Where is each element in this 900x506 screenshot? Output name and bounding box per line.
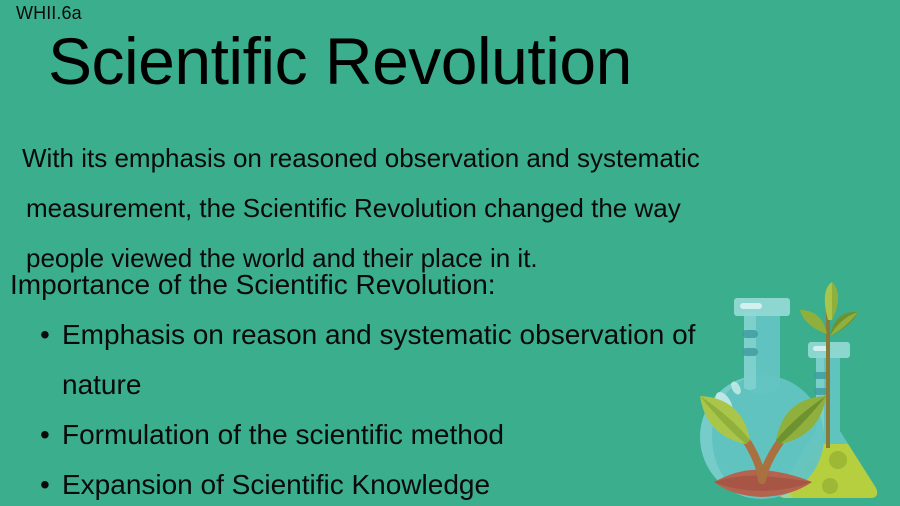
list-item-label: Expansion of Scientific Knowledge: [62, 464, 490, 506]
list-item: • Emphasis on reason and systematic obse…: [40, 314, 760, 364]
slide-canvas: WHII.6a Scientific Revolution With its e…: [0, 0, 900, 506]
importance-heading: Importance of the Scientific Revolution:: [10, 268, 496, 302]
slide-title: Scientific Revolution: [48, 22, 632, 100]
importance-bullet-list: • Emphasis on reason and systematic obse…: [40, 314, 760, 506]
bullet-dot-icon: •: [40, 414, 62, 456]
intro-line-1: With its emphasis on reasoned observatio…: [22, 133, 842, 183]
erlenmeyer-sprout-icon: [800, 282, 858, 448]
intro-line-2: measurement, the Scientific Revolution c…: [22, 183, 842, 233]
intro-paragraph: With its emphasis on reasoned observatio…: [22, 133, 842, 283]
erlenmeyer-flask-icon: [779, 342, 877, 498]
standard-code-label: WHII.6a: [16, 2, 82, 24]
bullet-dot-icon: •: [40, 464, 62, 506]
list-item-label: Emphasis on reason and systematic observ…: [62, 314, 695, 356]
list-item: • Expansion of Scientific Knowledge: [40, 464, 760, 506]
list-item: • Formulation of the scientific method: [40, 414, 760, 464]
list-item-continuation: nature: [40, 364, 760, 414]
list-item-label: Formulation of the scientific method: [62, 414, 504, 456]
bullet-dot-icon: •: [40, 314, 62, 356]
